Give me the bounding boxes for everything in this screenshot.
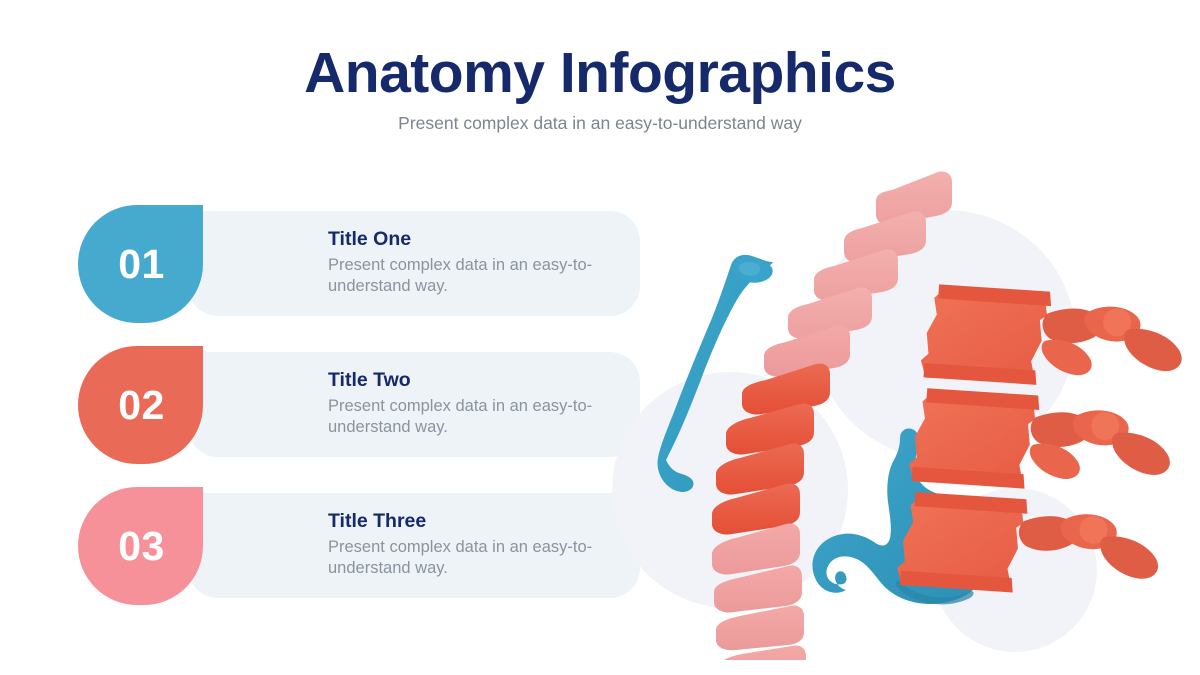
list-item-text: Title Two Present complex data in an eas… bbox=[328, 370, 628, 438]
list-item-badge-01[interactable]: 01 bbox=[78, 205, 203, 323]
list-item-description: Present complex data in an easy-to-under… bbox=[328, 255, 628, 297]
list-item[interactable]: 02 Title Two Present complex data in an … bbox=[78, 346, 578, 464]
page-subtitle: Present complex data in an easy-to-under… bbox=[0, 113, 1200, 134]
list-item-badge-02[interactable]: 02 bbox=[78, 346, 203, 464]
list-item-description: Present complex data in an easy-to-under… bbox=[328, 396, 628, 438]
list-item[interactable]: 01 Title One Present complex data in an … bbox=[78, 205, 578, 323]
badge-number: 03 bbox=[116, 526, 165, 567]
list-item-title: Title Three bbox=[328, 511, 628, 532]
list-item-description: Present complex data in an easy-to-under… bbox=[328, 537, 628, 579]
list-item-text: Title One Present complex data in an eas… bbox=[328, 229, 628, 297]
header: Anatomy Infographics Present complex dat… bbox=[0, 44, 1200, 134]
list-item-title: Title One bbox=[328, 229, 628, 250]
list-item-title: Title Two bbox=[328, 370, 628, 391]
badge-number: 02 bbox=[116, 385, 165, 426]
list-item[interactable]: 03 Title Three Present complex data in a… bbox=[78, 487, 578, 605]
list-item-badge-03[interactable]: 03 bbox=[78, 487, 203, 605]
anatomy-illustration bbox=[600, 150, 1200, 660]
list-item-text: Title Three Present complex data in an e… bbox=[328, 511, 628, 579]
badge-number: 01 bbox=[116, 244, 165, 285]
info-list: 01 Title One Present complex data in an … bbox=[78, 205, 578, 628]
page-title: Anatomy Infographics bbox=[0, 44, 1200, 104]
slide-canvas: Anatomy Infographics Present complex dat… bbox=[0, 0, 1200, 675]
